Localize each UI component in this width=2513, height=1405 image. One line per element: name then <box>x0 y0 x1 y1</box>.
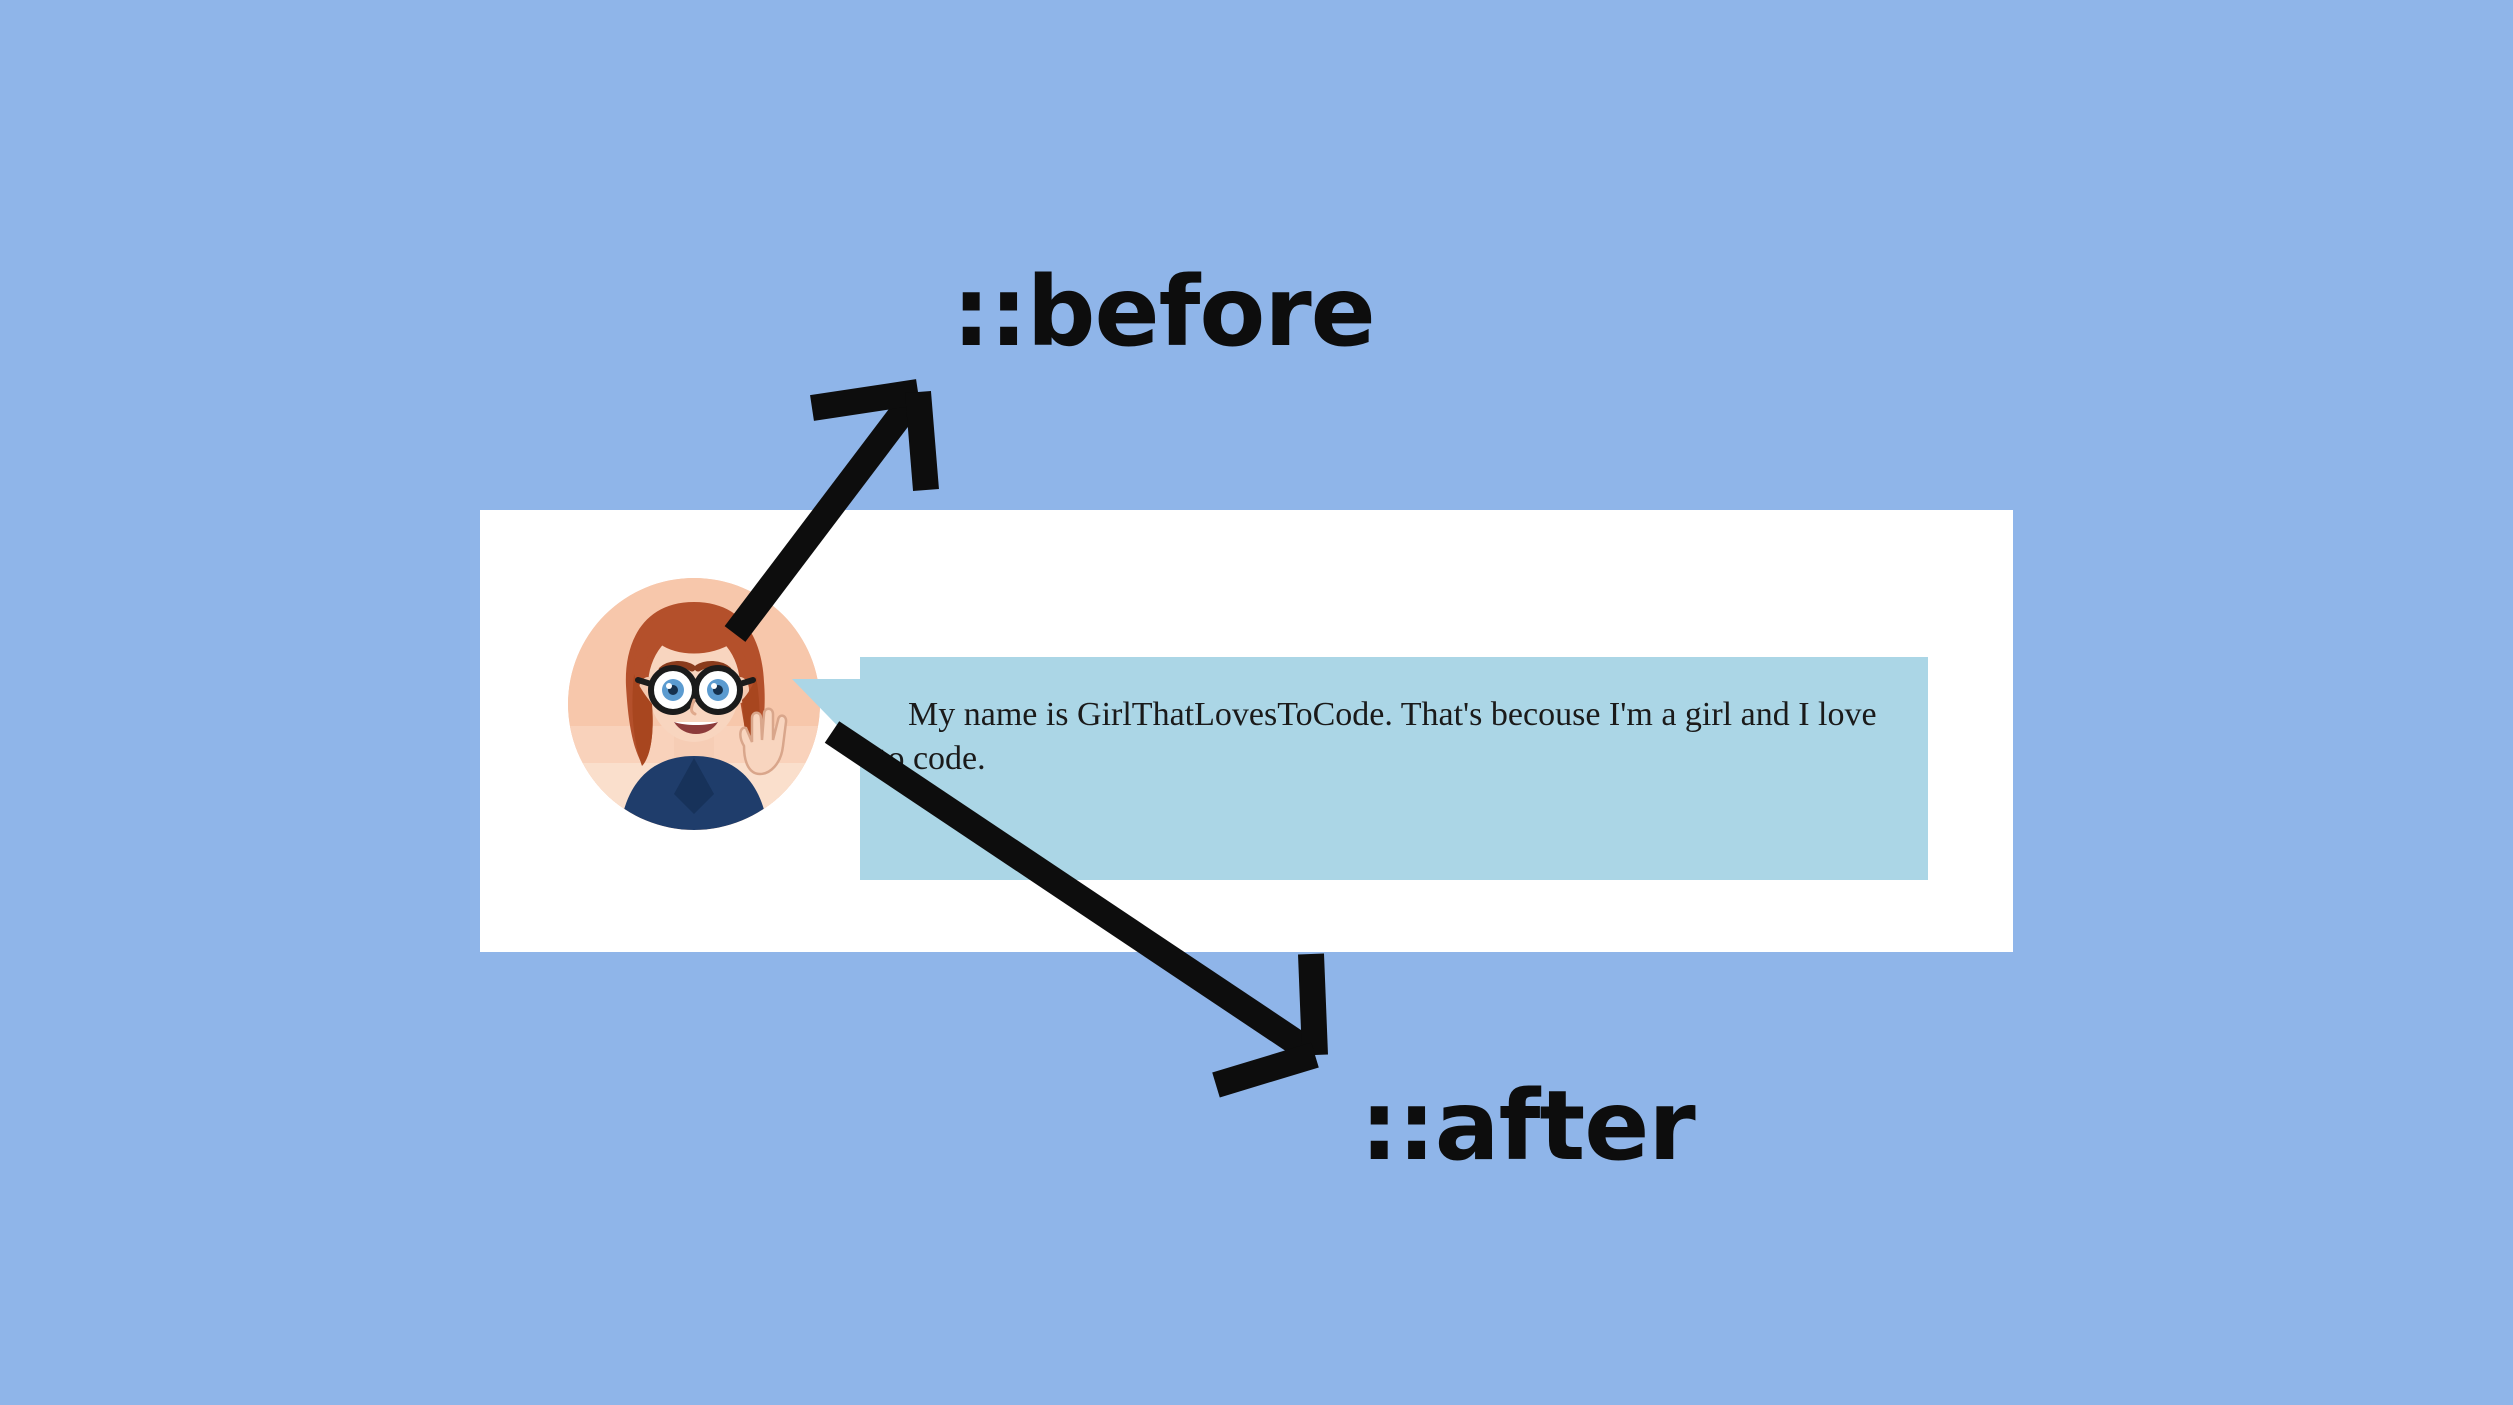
before-pseudo-label: ::before <box>952 264 1375 360</box>
page-canvas: ::before <box>0 0 2513 1405</box>
speech-bubble-text: My name is GirlThatLovesToCode. That's b… <box>878 693 1898 780</box>
profile-card: My name is GirlThatLovesToCode. That's b… <box>480 510 2013 952</box>
speech-bubble-tail <box>792 679 862 751</box>
after-pseudo-label: ::after <box>1360 1078 1695 1174</box>
speech-bubble: My name is GirlThatLovesToCode. That's b… <box>860 657 1928 880</box>
avatar <box>568 578 820 830</box>
